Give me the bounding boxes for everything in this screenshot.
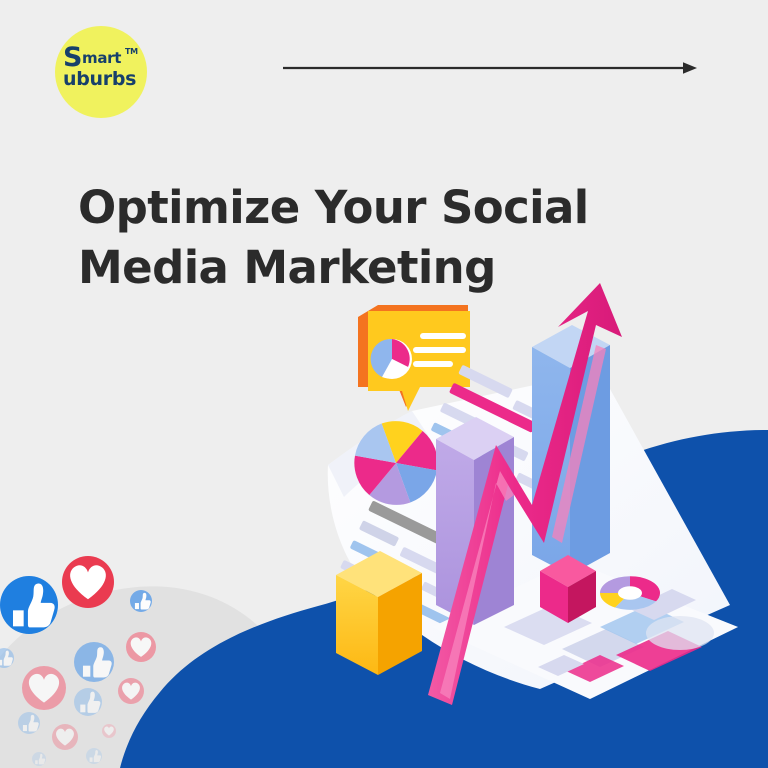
thumbs-up-icon[interactable] [32,752,46,766]
isometric-analytics-illustration [300,275,768,725]
thumbs-up-icon[interactable] [130,590,152,612]
poster-canvas: S mart TM uburbs Optimize Your Social Me… [0,0,768,768]
logo-text-mart: mart [82,51,121,66]
trademark-icon: TM [125,48,138,56]
bar-yellow [336,551,422,675]
brand-logo[interactable]: S mart TM uburbs [55,26,147,118]
header: S mart TM uburbs [0,0,768,130]
heart-icon[interactable] [118,678,144,704]
thumbs-up-icon[interactable] [74,688,102,716]
heart-icon[interactable] [62,556,114,608]
thumbs-up-icon[interactable] [74,642,114,682]
thumbs-up-icon[interactable] [0,576,58,634]
speech-bubble [358,305,470,411]
report-donut-chart [600,576,660,610]
thumbs-up-icon[interactable] [0,648,14,668]
arrow-right-icon [283,60,698,76]
thumbs-up-icon[interactable] [86,748,102,764]
logo-text-suburbs: uburbs [63,70,136,89]
social-reaction-bubbles [0,548,220,768]
heart-icon[interactable] [22,666,66,710]
logo-letter-s: S [63,44,82,71]
heart-icon[interactable] [52,724,78,750]
heart-icon[interactable] [126,632,156,662]
thumbs-up-icon[interactable] [18,712,40,734]
bubble-pie-chart [371,339,412,379]
heart-icon[interactable] [102,724,116,738]
paper-cloud-shape [646,616,714,650]
